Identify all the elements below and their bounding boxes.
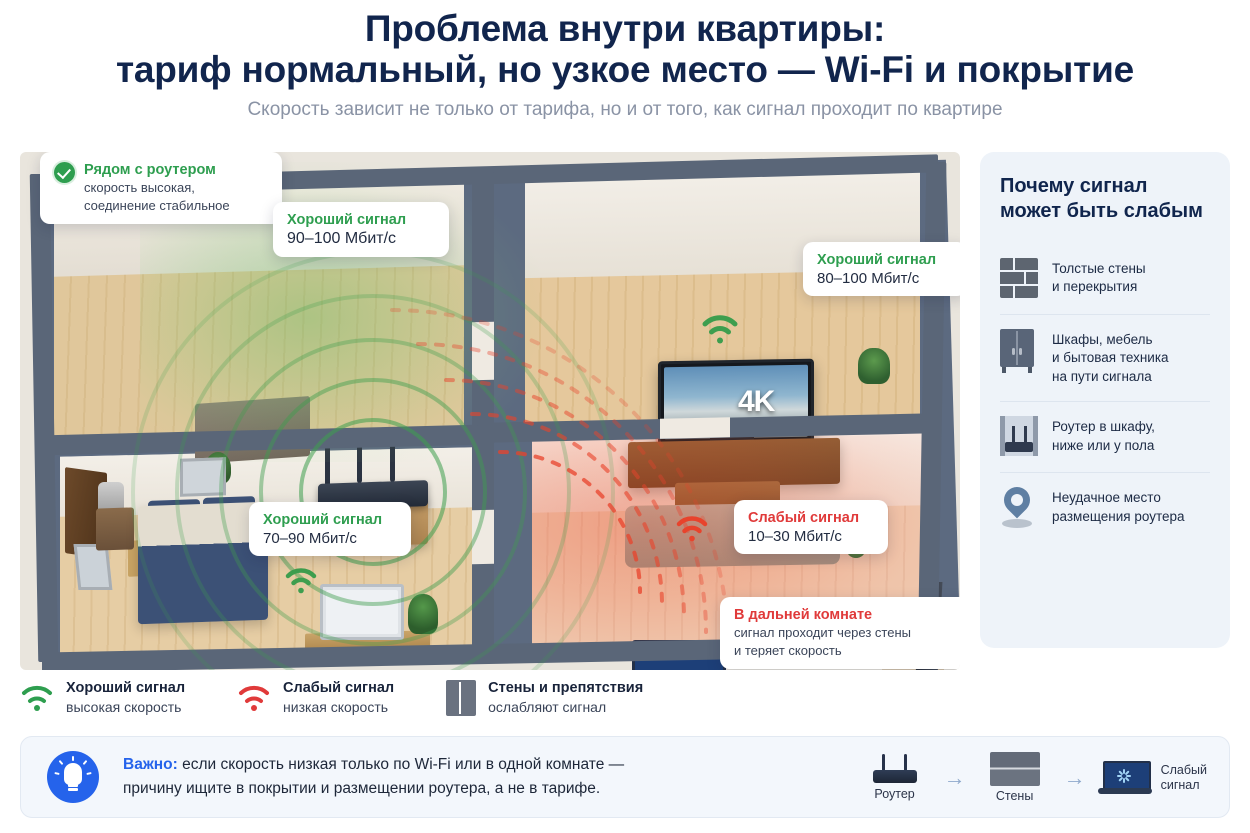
callout-good-living-title: Хороший сигнал (817, 251, 953, 269)
callout-far-room: В дальней комнате сигнал проходит через … (720, 597, 960, 669)
legend-walls-sub: ослабляют сигнал (488, 698, 643, 716)
map-pin-icon (1000, 487, 1038, 529)
panel-title-line2: может быть слабым (1000, 200, 1203, 222)
flow-arrow-2: → (1064, 767, 1086, 789)
wall-icon (990, 752, 1040, 786)
reason-0-line2: и перекрытия (1052, 279, 1137, 294)
callout-far-room-title: В дальней комнате (734, 606, 956, 624)
router-in-niche-icon (1000, 416, 1038, 458)
reason-1-line2: и бытовая техника (1052, 350, 1169, 365)
door-opening-1 (472, 322, 494, 381)
bedroom-wall-picture (180, 457, 226, 497)
reason-router-niche-text: Роутер в шкафу, ниже или у пола (1052, 416, 1155, 456)
callout-near-router-title: Рядом с роутером (84, 161, 230, 179)
callout-good-hall-title: Хороший сигнал (287, 211, 435, 229)
tv-4k-badge: 4K (738, 385, 774, 419)
callout-weak-office-title: Слабый сигнал (748, 509, 874, 527)
legend-good-title: Хороший сигнал (66, 679, 185, 698)
brick-wall-icon (1000, 258, 1038, 300)
reason-thick-walls: Толстые стены и перекрытия (1000, 244, 1210, 315)
reason-0-line1: Толстые стены (1052, 261, 1146, 276)
apartment-floor-plan: 4K (20, 152, 960, 670)
reason-router-placement-niche: Роутер в шкафу, ниже или у пола (1000, 402, 1210, 473)
laptop-loading-icon (1098, 761, 1152, 795)
page-title: Проблема внутри квартиры: тариф нормальн… (40, 8, 1210, 91)
router-antenna-1 (325, 444, 330, 486)
bedroom-nightstand (96, 507, 134, 550)
bedroom-side-picture (74, 544, 113, 590)
bedroom-plant-icon (408, 594, 438, 634)
wifi-red-icon (237, 684, 271, 712)
router-icon (869, 754, 921, 784)
legend-weak-sub: низкая скорость (283, 698, 394, 716)
check-circle-icon (54, 162, 75, 183)
footer-line1: если скорость низкая только по Wi-Fi или… (178, 756, 624, 773)
bedroom-monitor (320, 584, 404, 640)
flow-weak-label-l2: сигнал (1161, 778, 1200, 792)
flow-weak-signal-label: Слабый сигнал (1161, 763, 1207, 793)
legend-item-good: Хороший сигнал высокая скорость (20, 679, 185, 716)
flow-router-label: Роутер (874, 787, 914, 802)
flow-step-weak-signal: Слабый сигнал (1098, 761, 1207, 795)
reason-furniture-text: Шкафы, мебель и бытовая техника на пути … (1052, 329, 1169, 388)
reason-2-line1: Роутер в шкафу, (1052, 419, 1155, 434)
reason-3-line2: размещения роутера (1052, 509, 1185, 524)
callout-far-room-line2: и теряет скорость (734, 642, 956, 660)
reason-1-line1: Шкафы, мебель (1052, 332, 1153, 347)
callout-far-room-line1: сигнал проходит через стены (734, 624, 956, 642)
reason-1-line3: на пути сигнала (1052, 369, 1152, 384)
callout-weak-office-speed: 10–30 Мбит/с (748, 528, 874, 545)
tv-stand (628, 438, 840, 488)
header: Проблема внутри квартиры: тариф нормальн… (0, 0, 1250, 121)
callout-good-bedroom: Хороший сигнал 70–90 Мбит/с (249, 502, 411, 556)
flow-arrow-1: → (944, 767, 966, 789)
callout-good-living: Хороший сигнал 80–100 Мбит/с (803, 242, 960, 296)
wall-block-icon (446, 680, 476, 716)
flow-walls-label: Стены (996, 789, 1033, 804)
flow-step-router: Роутер (858, 754, 932, 802)
infographic-page: Проблема внутри квартиры: тариф нормальн… (0, 0, 1250, 833)
footer-note-text: Важно: если скорость низкая только по Wi… (123, 753, 624, 802)
legend-item-weak: Слабый сигнал низкая скорость (237, 679, 394, 716)
panel-title: Почему сигнал может быть слабым (1000, 174, 1210, 224)
callout-weak-office: Слабый сигнал 10–30 Мбит/с (734, 500, 888, 554)
callout-good-hall: Хороший сигнал 90–100 Мбит/с (273, 202, 449, 257)
callout-near-router-line1: скорость высокая, (84, 179, 230, 197)
reason-3-line1: Неудачное место (1052, 490, 1161, 505)
wifi-green-icon (20, 684, 54, 712)
legend-item-walls: Стены и препятствия ослабляют сигнал (446, 679, 643, 716)
footer-line2: причину ищите в покрытии и размещении ро… (123, 780, 600, 797)
door-opening-2 (472, 510, 494, 565)
footer-highlight: Важно: (123, 756, 178, 773)
legend-weak-title: Слабый сигнал (283, 679, 394, 698)
title-line-2: тариф нормальный, но узкое место — Wi-Fi… (40, 49, 1210, 90)
living-plant-icon (858, 348, 890, 384)
flow-weak-label-l1: Слабый (1161, 763, 1207, 777)
reason-thick-walls-text: Толстые стены и перекрытия (1052, 258, 1146, 298)
flow-step-walls: Стены (978, 752, 1052, 804)
reason-2-line2: ниже или у пола (1052, 438, 1154, 453)
callout-near-router: Рядом с роутером скорость высокая, соеди… (40, 152, 282, 224)
footer-note-bar: Важно: если скорость низкая только по Wi… (20, 736, 1230, 818)
legend: Хороший сигнал высокая скорость Слабый с… (20, 672, 720, 724)
callout-good-hall-speed: 90–100 Мбит/с (287, 230, 435, 248)
legend-walls-title: Стены и препятствия (488, 679, 643, 698)
door-opening-3 (660, 417, 730, 438)
title-line-1: Проблема внутри квартиры: (365, 8, 885, 49)
reason-bad-location-text: Неудачное место размещения роутера (1052, 487, 1185, 527)
cabinet-icon (1000, 329, 1038, 371)
callout-good-bedroom-title: Хороший сигнал (263, 511, 397, 529)
callout-near-router-line2: соединение стабильное (84, 197, 230, 215)
page-subtitle: Скорость зависит не только от тарифа, но… (40, 99, 1210, 121)
loading-spinner-icon (1117, 769, 1131, 783)
panel-title-line1: Почему сигнал (1000, 175, 1147, 197)
callout-good-living-speed: 80–100 Мбит/с (817, 270, 953, 287)
main-area: 4K (20, 152, 1230, 670)
lightbulb-icon (47, 751, 99, 803)
reason-furniture: Шкафы, мебель и бытовая техника на пути … (1000, 315, 1210, 403)
wall-vertical-middle (472, 172, 494, 653)
signal-path-flow: Роутер → Стены → (858, 737, 1207, 819)
reason-bad-location: Неудачное место размещения роутера (1000, 473, 1210, 543)
bedroom-monitor-screen (326, 590, 398, 634)
callout-good-bedroom-speed: 70–90 Мбит/с (263, 530, 397, 547)
legend-good-sub: высокая скорость (66, 698, 185, 716)
why-weak-panel: Почему сигнал может быть слабым Толстые … (980, 152, 1230, 648)
